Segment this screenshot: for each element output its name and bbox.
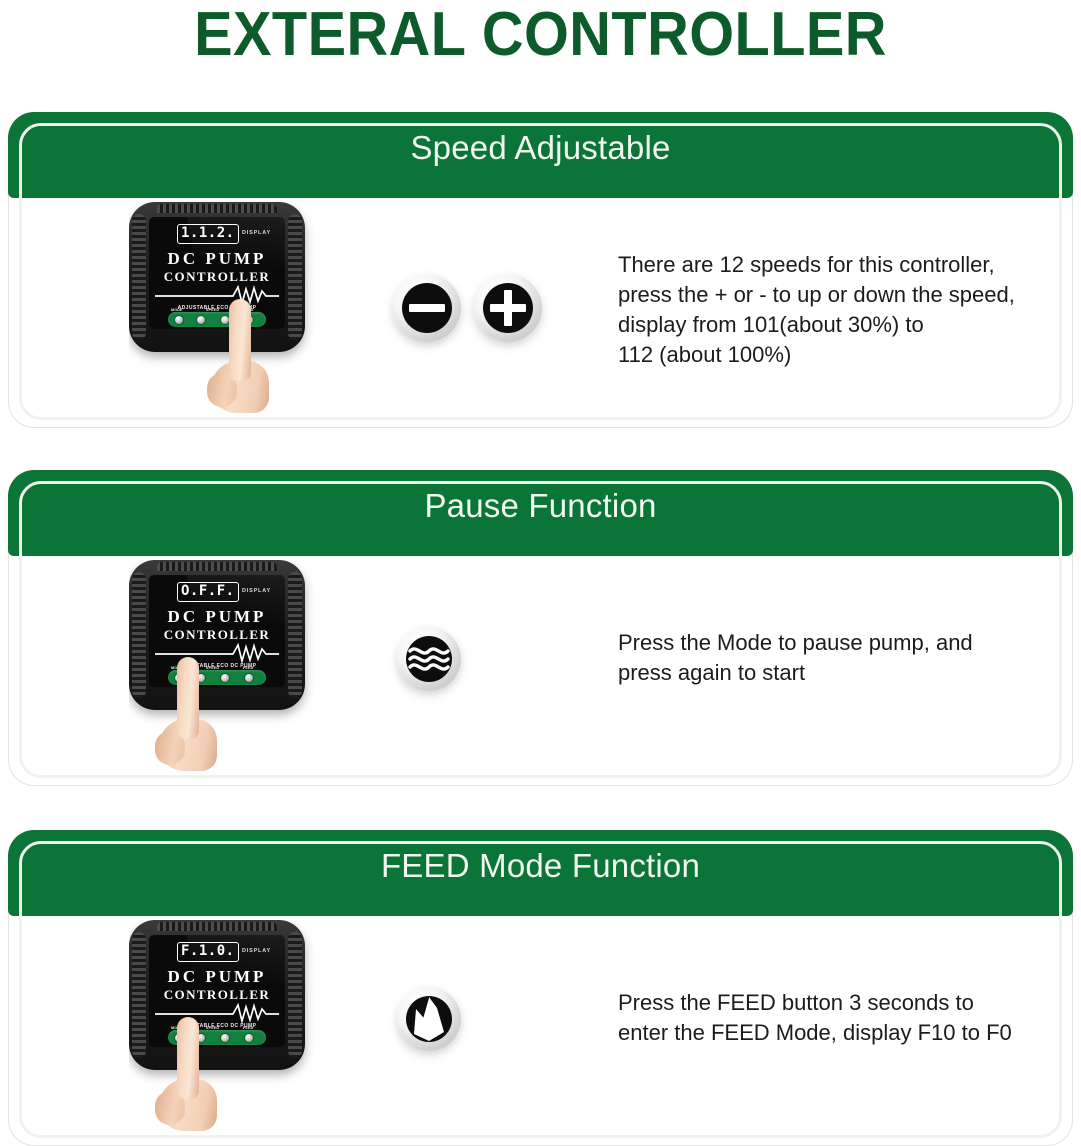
device-brand-line1: DC PUMP	[149, 607, 285, 627]
device-brand-line2: CONTROLLER	[149, 987, 285, 1002]
device-brand-line1: DC PUMP	[149, 249, 285, 269]
card-title: Pause Function	[8, 486, 1073, 526]
device-rib-right	[288, 572, 302, 698]
device-button-mode[interactable]	[174, 315, 184, 325]
button-cap-feed: FEED	[243, 1026, 253, 1030]
device-brand-line1: DC PUMP	[149, 967, 285, 987]
device-brand-line2: CONTROLLER	[149, 269, 285, 284]
display-value: F.1.0.	[177, 942, 239, 962]
card-title: Speed Adjustable	[8, 128, 1073, 168]
display-label: DISPLAY	[242, 230, 271, 236]
device-rib-left	[132, 932, 146, 1058]
plus-icon	[474, 274, 542, 342]
display-label: DISPLAY	[242, 948, 271, 954]
mode-waves-icon	[397, 627, 461, 691]
device-button-feed[interactable]	[244, 1033, 254, 1043]
controller-device: 1.1.2. DISPLAY DC PUMP CONTROLLER ADJUST…	[129, 202, 315, 427]
card-body-text: Press the Mode to pause pump, and press …	[618, 628, 1068, 688]
index-finger	[177, 1017, 199, 1099]
device-rib-left	[132, 214, 146, 340]
display-label: DISPLAY	[242, 588, 271, 594]
device-rib-left	[132, 572, 146, 698]
button-cap-feed: FEED	[243, 666, 253, 670]
device-rib-right	[288, 932, 302, 1058]
feed-arrow-icon	[397, 987, 461, 1051]
index-finger	[229, 299, 251, 381]
device-rib-right	[288, 214, 302, 340]
pointing-hand	[157, 657, 227, 777]
display-value: 1.1.2.	[177, 224, 239, 244]
controller-device: F.1.0. DISPLAY DC PUMP CONTROLLER ADJUST…	[129, 920, 315, 1145]
pointing-hand	[209, 299, 279, 419]
index-finger	[177, 657, 199, 739]
device-brand-line2: CONTROLLER	[149, 627, 285, 642]
controller-device: O.F.F. DISPLAY DC PUMP CONTROLLER ADJUST…	[129, 560, 315, 785]
device-rib-top	[157, 204, 277, 213]
button-cap-mode: MODE	[171, 308, 183, 312]
display-value: O.F.F.	[177, 582, 239, 602]
device-button-minus[interactable]	[196, 315, 206, 325]
card-body-text: There are 12 speeds for this controller,…	[618, 250, 1068, 370]
device-rib-top	[157, 922, 277, 931]
page-title: EXTERAL CONTROLLER	[38, 2, 1043, 68]
device-rib-top	[157, 562, 277, 571]
card-body-text: Press the FEED button 3 seconds to enter…	[618, 988, 1068, 1048]
pointing-hand	[157, 1017, 227, 1137]
card-title: FEED Mode Function	[8, 846, 1073, 886]
device-button-feed[interactable]	[244, 673, 254, 683]
minus-icon	[393, 274, 461, 342]
